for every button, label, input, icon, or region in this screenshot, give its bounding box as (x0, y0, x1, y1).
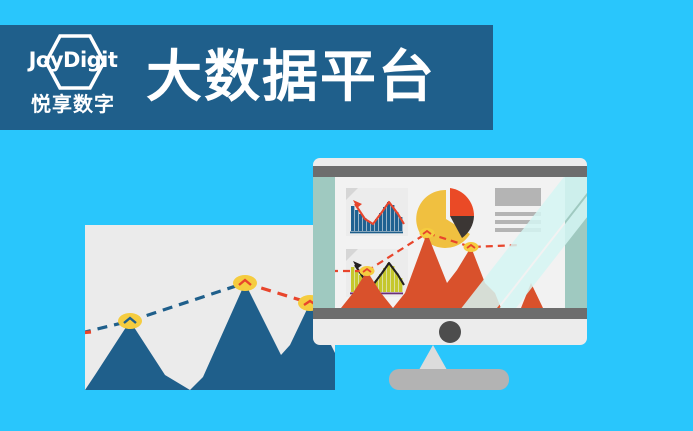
data-marker (464, 242, 479, 252)
monitor-screen (313, 177, 587, 308)
header-banner: JoyDigit 悦享数字 大数据平台 (0, 25, 493, 130)
mountain-chart-svg (85, 225, 335, 390)
poster-canvas: JoyDigit 悦享数字 大数据平台 (0, 0, 693, 431)
monitor-top-bezel (313, 166, 587, 177)
brand-wordmark: JoyDigit (14, 48, 132, 72)
data-marker (420, 228, 435, 238)
dashed-trend-left (85, 283, 245, 333)
folded-corner (346, 188, 358, 200)
document-placeholder-block (495, 188, 541, 206)
brand-subtitle: 悦享数字 (14, 88, 132, 117)
monitor-stand-base (389, 369, 509, 390)
brand-logo: JoyDigit 悦享数字 (14, 30, 132, 126)
data-marker (233, 275, 257, 291)
monitor-bottom-bezel (313, 308, 587, 319)
monitor (313, 158, 587, 345)
data-marker (118, 313, 142, 329)
data-marker (360, 266, 375, 276)
pie-slice-b (450, 188, 474, 216)
mountain-area-chart (85, 225, 335, 390)
monitor-camera-dot (439, 321, 461, 343)
page-title: 大数据平台 (146, 50, 436, 106)
dash-stub-left (85, 332, 91, 333)
